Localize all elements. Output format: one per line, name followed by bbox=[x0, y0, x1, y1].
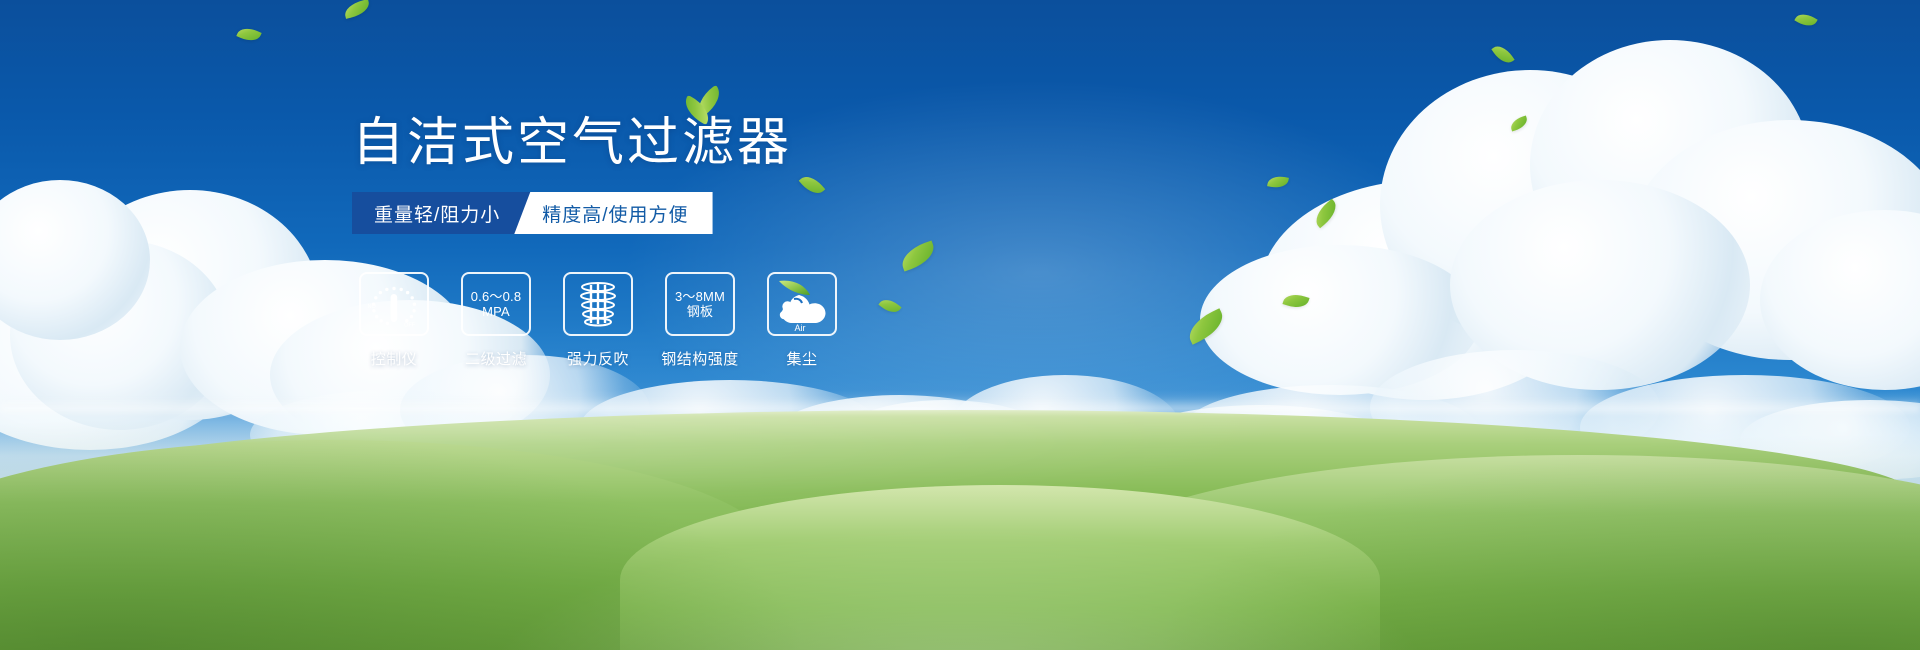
tag-precision-easyuse: 精度高/使用方便 bbox=[514, 192, 712, 234]
banner-content: 自洁式空气过滤器 重量轻/阻力小 精度高/使用方便 bbox=[0, 0, 1920, 650]
feature-caption: 集尘 bbox=[786, 348, 817, 369]
control-dial-icon: NO OFF bbox=[359, 272, 429, 336]
page-title: 自洁式空气过滤器 bbox=[352, 117, 792, 169]
cloud-air-icon: Air bbox=[767, 272, 837, 336]
steel-plate-text-icon: 3～8MM 钢板 bbox=[665, 272, 735, 336]
steel-value-line1: 3～8MM bbox=[675, 289, 725, 304]
tag-lightweight-lowresistance: 重量轻/阻力小 bbox=[352, 192, 530, 234]
pressure-value-line1: 0.6～0.8 bbox=[471, 289, 522, 304]
filter-cartridge-icon bbox=[563, 272, 633, 336]
feature-item-steel: 3～8MM 钢板 钢结构强度 bbox=[664, 272, 736, 369]
feature-caption: 二级过滤 bbox=[465, 348, 527, 369]
dial-label-off: OFF bbox=[404, 323, 416, 329]
air-label: Air bbox=[795, 323, 806, 333]
feature-tag-group: 重量轻/阻力小 精度高/使用方便 bbox=[352, 192, 713, 234]
feature-item-controller: NO OFF 控制仪 bbox=[358, 272, 430, 369]
feature-item-pressure: 0.6～0.8 MPA 二级过滤 bbox=[460, 272, 532, 369]
pressure-value-line2: MPA bbox=[482, 304, 510, 319]
leaf-icon bbox=[680, 92, 726, 126]
feature-icon-row: NO OFF 控制仪 0.6～0.8 MPA 二级过滤 bbox=[358, 272, 838, 369]
hero-banner: 自洁式空气过滤器 重量轻/阻力小 精度高/使用方便 bbox=[0, 0, 1920, 650]
feature-item-backblow: 强力反吹 bbox=[562, 272, 634, 369]
pressure-text-icon: 0.6～0.8 MPA bbox=[461, 272, 531, 336]
feature-caption: 控制仪 bbox=[371, 348, 418, 369]
feature-caption: 强力反吹 bbox=[567, 348, 629, 369]
dial-label-no: NO bbox=[368, 304, 377, 310]
steel-value-line2: 钢板 bbox=[687, 304, 713, 319]
feature-caption: 钢结构强度 bbox=[661, 348, 739, 369]
feature-item-dustcollection: Air 集尘 bbox=[766, 272, 838, 369]
